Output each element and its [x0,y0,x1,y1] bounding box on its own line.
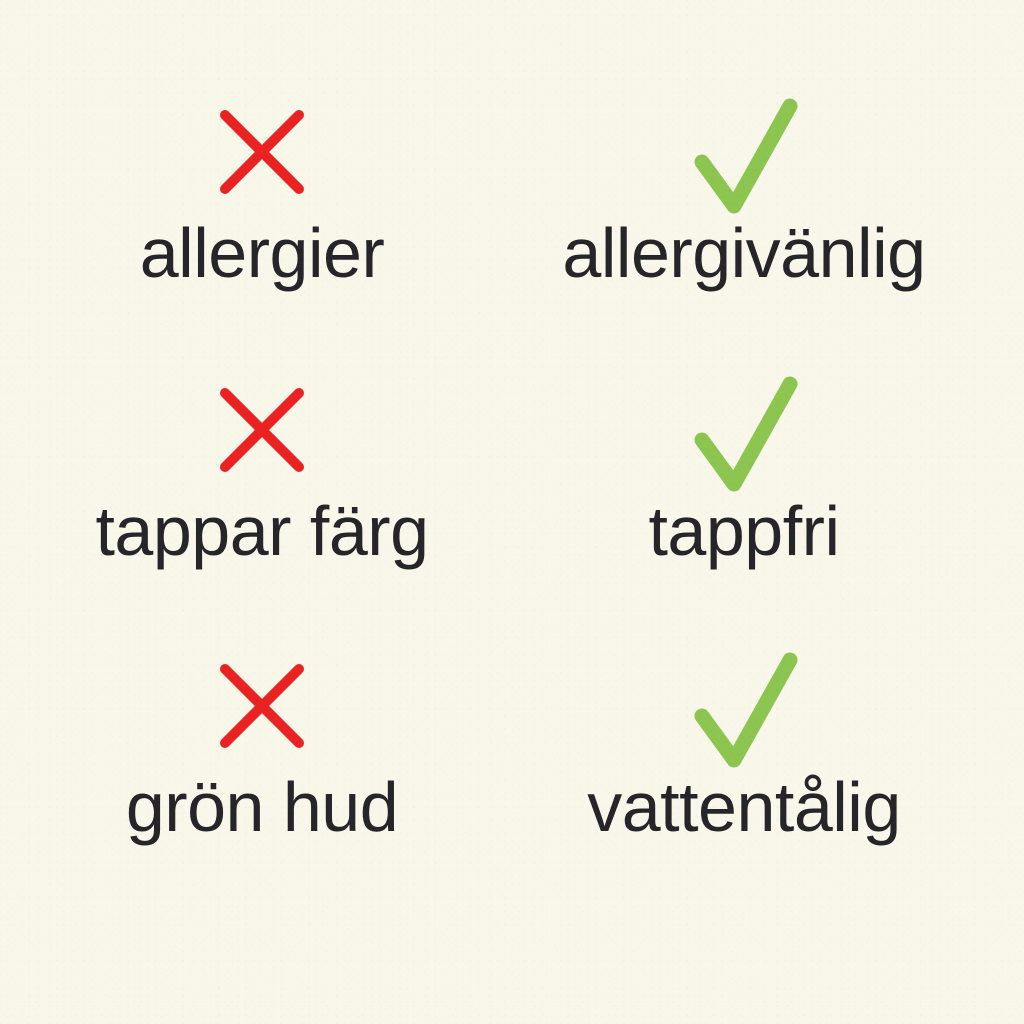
comparison-item-negative: tappar färg [12,374,512,566]
comparison-item-positive: allergivänlig [494,96,994,288]
comparison-item-label: tappfri [494,496,994,566]
cross-icon [12,650,512,762]
check-icon [494,650,994,762]
check-icon [494,96,994,208]
comparison-item-label: vattentålig [494,772,994,842]
cross-icon [12,374,512,486]
comparison-item-negative: allergier [12,96,512,288]
cross-icon [12,96,512,208]
comparison-item-label: allergier [12,218,512,288]
comparison-graphic: allergier allergivänlig tappar färg [0,0,1024,1024]
comparison-grid: allergier allergivänlig tappar färg [0,0,1024,1024]
comparison-item-negative: grön hud [12,650,512,842]
comparison-item-label: grön hud [12,772,512,842]
comparison-item-positive: vattentålig [494,650,994,842]
comparison-item-label: allergivänlig [494,218,994,288]
comparison-item-label: tappar färg [12,496,512,566]
comparison-item-positive: tappfri [494,374,994,566]
check-icon [494,374,994,486]
